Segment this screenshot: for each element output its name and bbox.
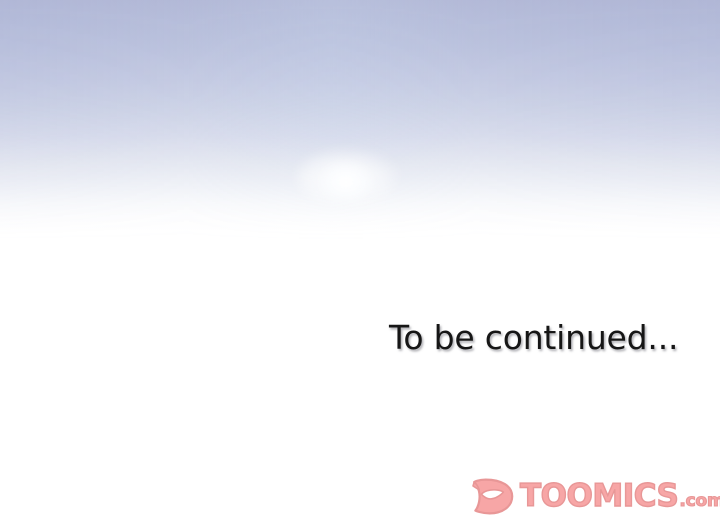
toomics-wordmark: TOOMICS .com xyxy=(520,481,720,512)
toomics-tld-text: .com xyxy=(679,493,720,510)
toomics-watermark: TOOMICS .com xyxy=(470,476,708,516)
to-be-continued-caption: To be continued... xyxy=(389,321,678,354)
toomics-brand-text: TOOMICS xyxy=(520,481,678,512)
comic-panel: To be continued... TOOMICS .com xyxy=(0,0,720,532)
toomics-d-mascot-icon xyxy=(470,478,516,515)
